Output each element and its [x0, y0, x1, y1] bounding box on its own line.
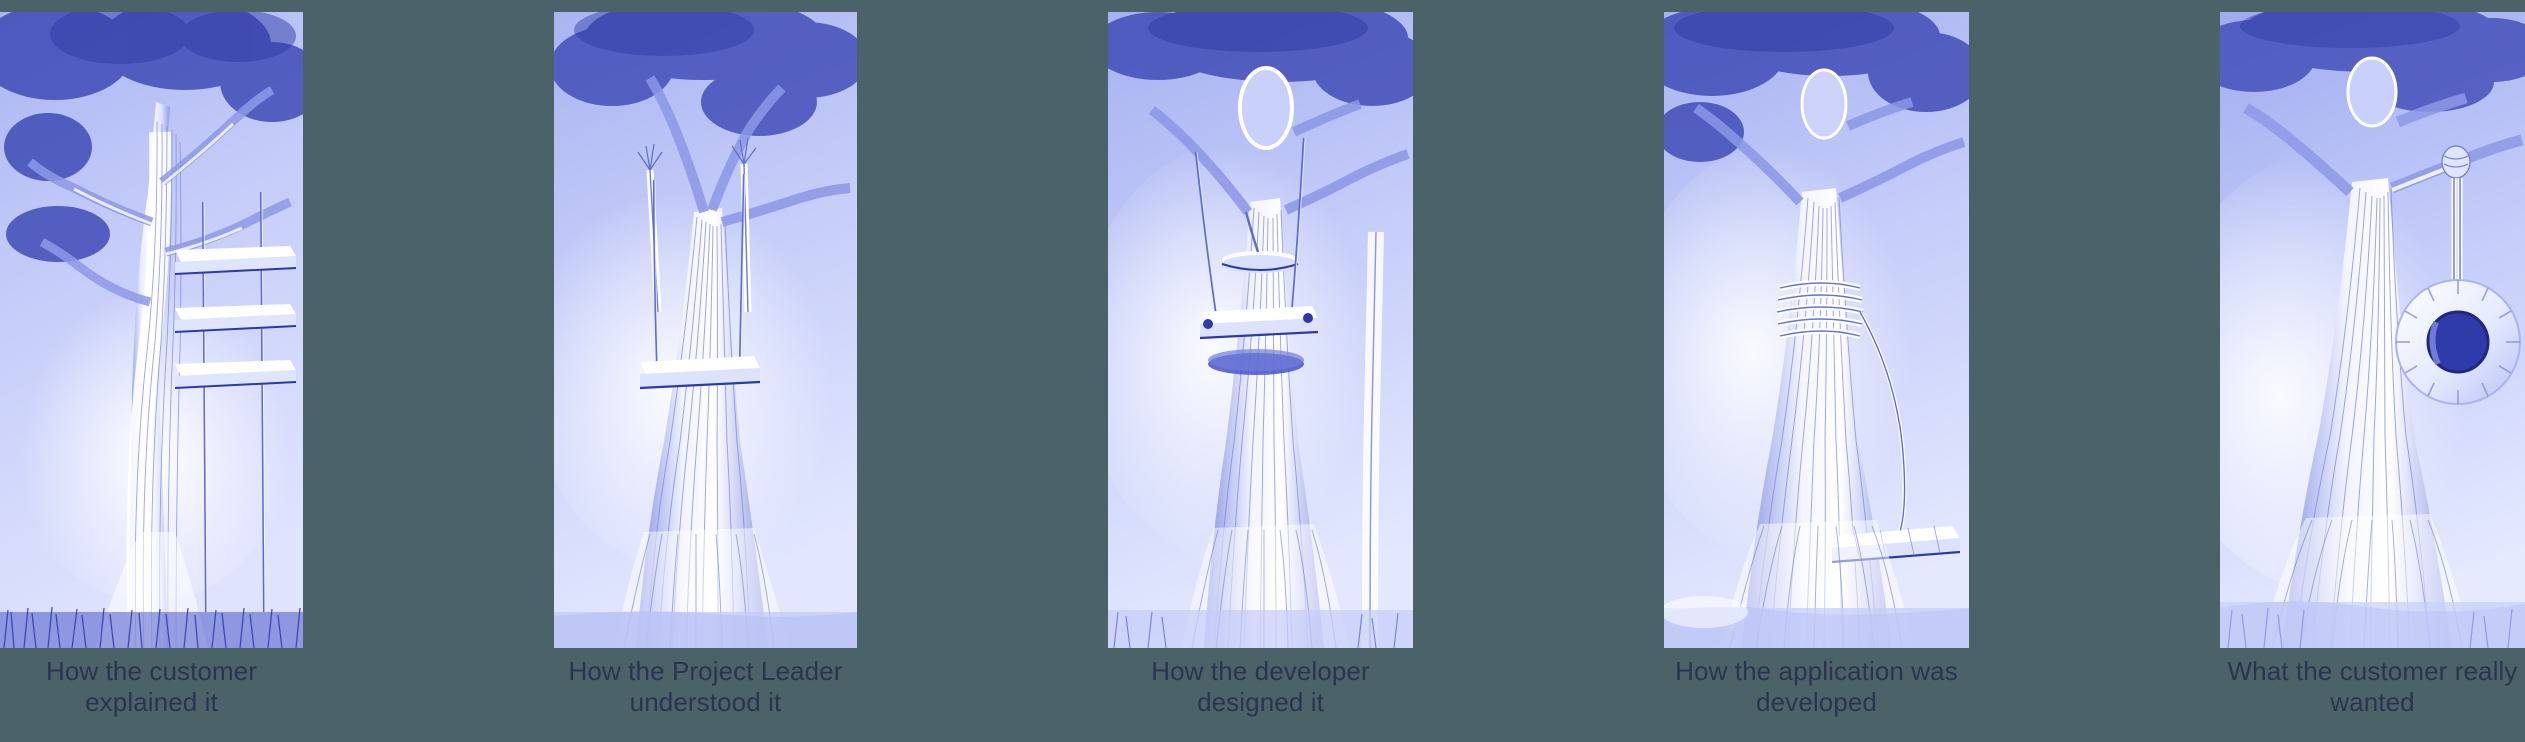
developer-designed-scene	[1108, 12, 1413, 648]
panel-3-caption: How the developer designed it	[1108, 648, 1413, 742]
panel-5: What the customer really wanted	[2220, 0, 2525, 742]
panel-row: How the customer explained it	[0, 0, 2525, 742]
rope-knot	[2442, 146, 2470, 178]
panel-4: How the application was developed	[1664, 0, 1969, 742]
panel-gap	[422, 0, 436, 10]
panel-3-artwork	[1108, 12, 1413, 648]
panel-1-caption: How the customer explained it	[0, 648, 303, 742]
comic-strip-image: How the customer explained it	[0, 0, 2525, 742]
oval-seat	[1222, 251, 1298, 273]
panel-5-artwork	[2220, 12, 2525, 648]
panel-gap	[976, 0, 990, 10]
panel-5-caption: What the customer really wanted	[2220, 648, 2525, 742]
detached-disc	[1208, 349, 1304, 375]
plank-seat	[175, 360, 296, 388]
tyre-swing	[2396, 280, 2520, 404]
panel-gap	[2088, 0, 2102, 10]
plank-seat	[175, 304, 296, 332]
plank-seat	[175, 246, 296, 274]
panel-4-caption: How the application was developed	[1664, 648, 1969, 742]
panel-4-artwork	[1664, 12, 1969, 648]
panel-1-artwork	[0, 12, 303, 648]
panel-3: How the developer designed it	[1108, 0, 1413, 742]
knot-hole	[2348, 58, 2396, 126]
panel-2-caption: How the Project Leader understood it	[554, 648, 857, 742]
project-leader-scene	[554, 12, 857, 648]
stacked-plank-seats	[175, 246, 296, 388]
grass	[0, 607, 303, 648]
panel-gap	[1532, 0, 1546, 10]
panel-1: How the customer explained it	[0, 0, 303, 742]
customer-explained-scene	[0, 12, 303, 648]
knot-hole	[1802, 70, 1846, 138]
customer-wanted-scene	[2220, 12, 2525, 648]
panel-2-artwork	[554, 12, 857, 648]
knot-hole	[1240, 68, 1292, 148]
application-developed-scene	[1664, 12, 1969, 648]
panel-2: How the Project Leader understood it	[554, 0, 857, 742]
